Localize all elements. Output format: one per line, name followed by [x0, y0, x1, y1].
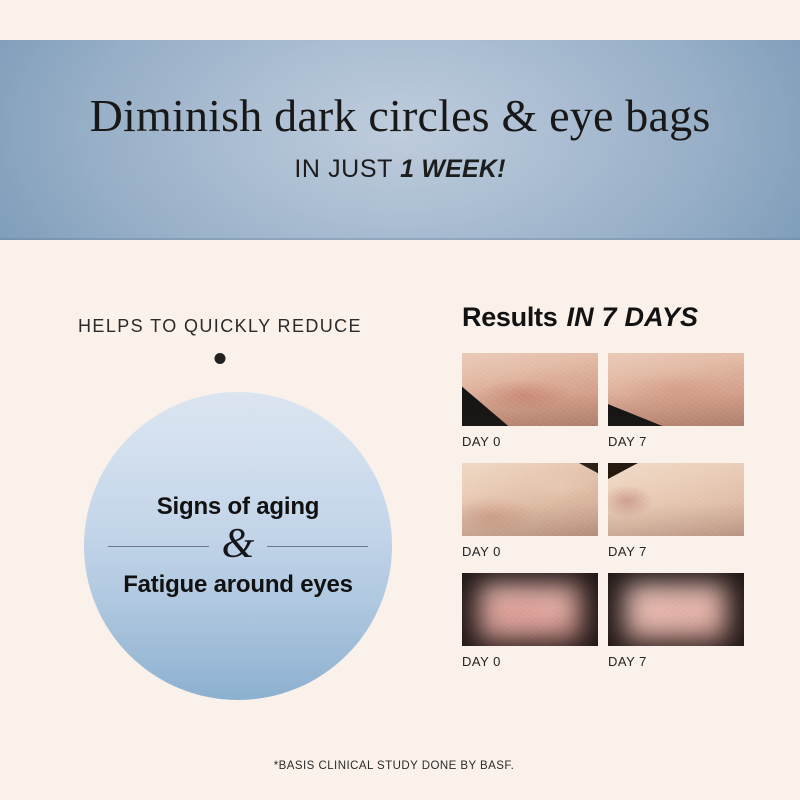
subheadline-emphasis: 1 WEEK! [400, 155, 506, 183]
result-cell-before: DAY 0 [462, 463, 598, 559]
helps-to-reduce-label: HELPS TO QUICKLY REDUCE [0, 316, 440, 337]
results-row: DAY 0 DAY 7 [462, 463, 744, 559]
result-cell-before: DAY 0 [462, 353, 598, 449]
photo-vignette-layer [608, 573, 744, 646]
photo-shade-layer [462, 463, 598, 536]
benefit-fatigue-around-eyes: Fatigue around eyes [123, 570, 353, 599]
benefits-column: HELPS TO QUICKLY REDUCE Signs of aging &… [0, 240, 440, 800]
after-photo [608, 463, 744, 536]
results-row: DAY 0 DAY 7 [462, 353, 744, 449]
result-cell-after: DAY 7 [608, 463, 744, 559]
photo-shade-layer [462, 353, 598, 426]
header-banner: Diminish dark circles & eye bags IN JUST… [0, 40, 800, 240]
photo-shade-layer [608, 353, 744, 426]
results-column: ResultsIN 7 DAYS DAY 0 [462, 240, 762, 800]
result-cell-after: DAY 7 [608, 573, 744, 669]
divider-rule-left [108, 546, 209, 547]
subheadline: IN JUST 1 WEEK! [294, 155, 505, 184]
before-photo [462, 573, 598, 646]
benefit-signs-of-aging: Signs of aging [157, 493, 320, 521]
infographic-page: Diminish dark circles & eye bags IN JUST… [0, 0, 800, 800]
bullet-dot-icon [215, 353, 226, 364]
result-cell-after: DAY 7 [608, 353, 744, 449]
before-photo [462, 463, 598, 536]
photo-shade-layer [608, 463, 744, 536]
after-photo [608, 573, 744, 646]
photo-caption-day0: DAY 0 [462, 544, 598, 559]
before-photo [462, 353, 598, 426]
benefit-circle: Signs of aging & Fatigue around eyes [84, 392, 392, 700]
results-timeframe: IN 7 DAYS [566, 302, 698, 332]
headline: Diminish dark circles & eye bags [90, 92, 711, 140]
results-title: Results [462, 302, 557, 332]
photo-vignette-layer [462, 573, 598, 646]
ampersand-glyph: & [209, 532, 268, 557]
results-photo-grid: DAY 0 DAY 7 [462, 353, 744, 683]
benefit-divider: & [108, 534, 368, 559]
result-cell-before: DAY 0 [462, 573, 598, 669]
divider-rule-right [267, 546, 368, 547]
photo-caption-day7: DAY 7 [608, 544, 744, 559]
results-row: DAY 0 DAY 7 [462, 573, 744, 669]
photo-caption-day7: DAY 7 [608, 434, 744, 449]
after-photo [608, 353, 744, 426]
photo-caption-day0: DAY 0 [462, 654, 598, 669]
subheadline-prefix: IN JUST [294, 155, 392, 183]
results-heading: ResultsIN 7 DAYS [462, 302, 698, 333]
clinical-study-disclaimer: *BASIS CLINICAL STUDY DONE BY BASF. [0, 760, 800, 772]
photo-caption-day0: DAY 0 [462, 434, 598, 449]
photo-caption-day7: DAY 7 [608, 654, 744, 669]
